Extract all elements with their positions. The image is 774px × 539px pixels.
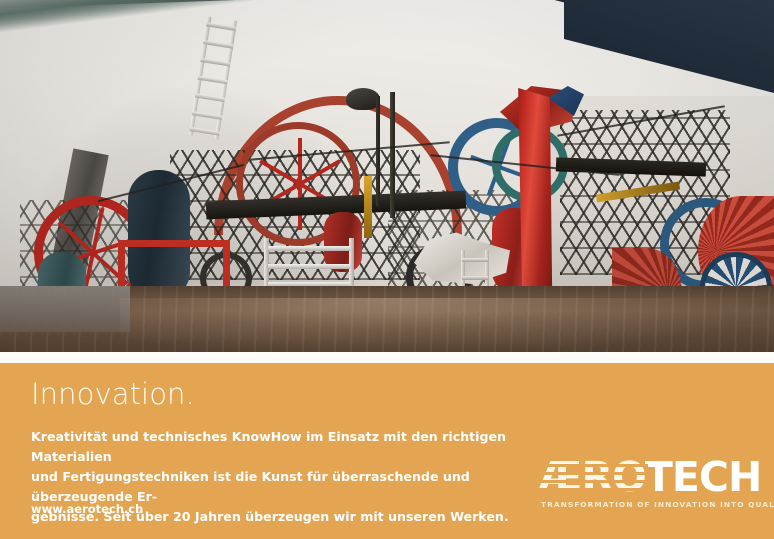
vertical-pipe [390, 92, 395, 218]
body-line-2: und Fertigungstechniken ist die Kunst fü… [31, 467, 541, 507]
aerotech-advertisement: Innovation. Kreativität und technisches … [0, 0, 774, 539]
aerotech-logo: ÆRO TECH TRANSFORMATION OF INNOVATION IN… [538, 455, 754, 517]
amber-rod [364, 176, 372, 238]
logo-tech-text: TECH [645, 457, 761, 497]
hero-photograph [0, 0, 774, 352]
headline: Innovation. [31, 377, 195, 411]
orange-text-panel: Innovation. Kreativität und technisches … [0, 363, 774, 539]
lamp-pole [376, 96, 380, 206]
logo-aero-text: ÆRO [538, 457, 646, 497]
lamp-icon [346, 88, 380, 110]
floor-reflection [120, 298, 760, 352]
photo-panel-divider [0, 352, 774, 363]
ladder-icon [187, 16, 239, 140]
body-line-1: Kreativität und technisches KnowHow im E… [31, 427, 541, 467]
logo-tagline: TRANSFORMATION OF INNOVATION INTO QUALIT… [541, 500, 774, 509]
website-url-link[interactable]: www.aerotech.ch [31, 502, 143, 516]
floor-grey-patch [0, 286, 130, 332]
logo-wordmark: ÆRO TECH [538, 455, 754, 497]
